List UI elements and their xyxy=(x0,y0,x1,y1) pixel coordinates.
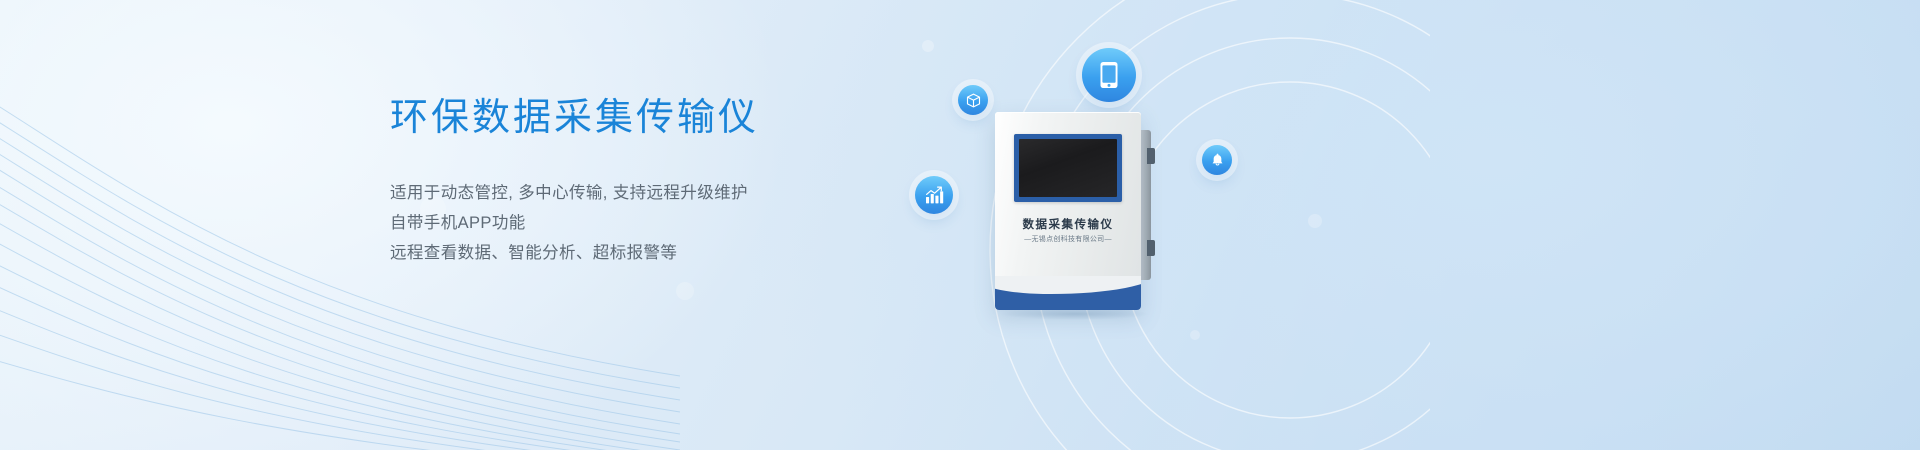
hero-copy-block: 环保数据采集传输仪 适用于动态管控, 多中心传输, 支持远程升级维护 自带手机A… xyxy=(390,96,910,268)
bokeh-bubble xyxy=(922,40,934,52)
bokeh-bubble xyxy=(676,282,694,300)
feature-line-list: 适用于动态管控, 多中心传输, 支持远程升级维护 自带手机APP功能 远程查看数… xyxy=(390,178,910,268)
alarm-bell-icon xyxy=(1202,145,1232,175)
device-screen-bezel xyxy=(1014,134,1122,202)
page-title: 环保数据采集传输仪 xyxy=(390,96,910,140)
product-hero-banner: 环保数据采集传输仪 适用于动态管控, 多中心传输, 支持远程升级维护 自带手机A… xyxy=(0,0,1920,450)
bokeh-bubble xyxy=(1308,214,1322,228)
feature-line: 远程查看数据、智能分析、超标报警等 xyxy=(390,238,910,268)
device-base-band xyxy=(995,276,1141,310)
box-package-icon xyxy=(958,85,988,115)
product-device-image: 数据采集传输仪 —无锡点创科技有限公司— xyxy=(995,112,1141,310)
feature-line: 适用于动态管控, 多中心传输, 支持远程升级维护 xyxy=(390,178,910,208)
bar-chart-icon xyxy=(915,176,953,214)
bokeh-bubble xyxy=(1190,330,1200,340)
device-manufacturer-label: —无锡点创科技有限公司— xyxy=(995,234,1141,244)
device-hinge-top xyxy=(1147,148,1155,164)
device-hinge-bottom xyxy=(1147,240,1155,256)
device-front-panel: 数据采集传输仪 —无锡点创科技有限公司— xyxy=(995,112,1141,310)
feature-line: 自带手机APP功能 xyxy=(390,208,910,238)
device-model-label: 数据采集传输仪 xyxy=(995,216,1141,232)
device-screen xyxy=(1019,139,1117,197)
mobile-phone-icon xyxy=(1082,48,1136,102)
